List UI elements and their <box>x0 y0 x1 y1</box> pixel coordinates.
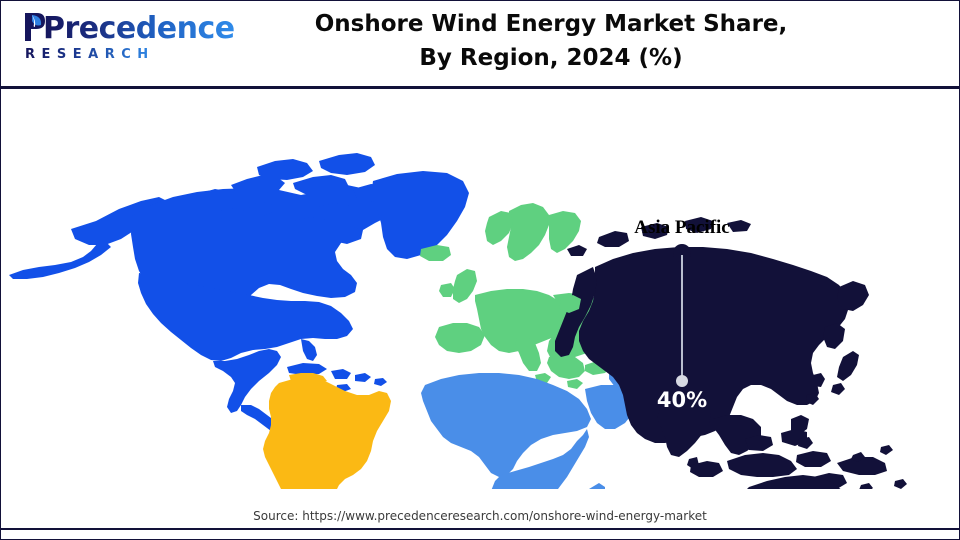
callout-value-asia-pacific: 40% <box>612 388 752 412</box>
region-asia-pacific[interactable] <box>555 217 921 489</box>
page-title-line-2: By Region, 2024 (%) <box>231 41 871 75</box>
callout-label-asia-pacific: Asia Pacific <box>582 217 782 239</box>
region-latin-america[interactable] <box>263 373 391 489</box>
callout-anchor-dot <box>676 375 688 387</box>
callout-connector-line <box>681 255 683 381</box>
precedence-research-logo: Precedence RESEARCH <box>17 9 177 69</box>
logo-subtitle: RESEARCH <box>25 47 155 62</box>
page-title-line-1: Onshore Wind Energy Market Share, <box>231 7 871 41</box>
header: Precedence RESEARCH Onshore Wind Energy … <box>1 1 959 86</box>
world-map-chart: Asia Pacific 40% <box>1 89 959 489</box>
source-text: Source: https://www.precedenceresearch.c… <box>1 509 959 523</box>
infographic-page: Precedence RESEARCH Onshore Wind Energy … <box>0 0 960 540</box>
footer-divider <box>1 528 959 530</box>
world-map-svg <box>1 89 959 489</box>
region-north-america[interactable] <box>9 153 469 433</box>
logo-wordmark: Precedence <box>43 11 235 47</box>
page-title: Onshore Wind Energy Market Share, By Reg… <box>231 7 871 75</box>
